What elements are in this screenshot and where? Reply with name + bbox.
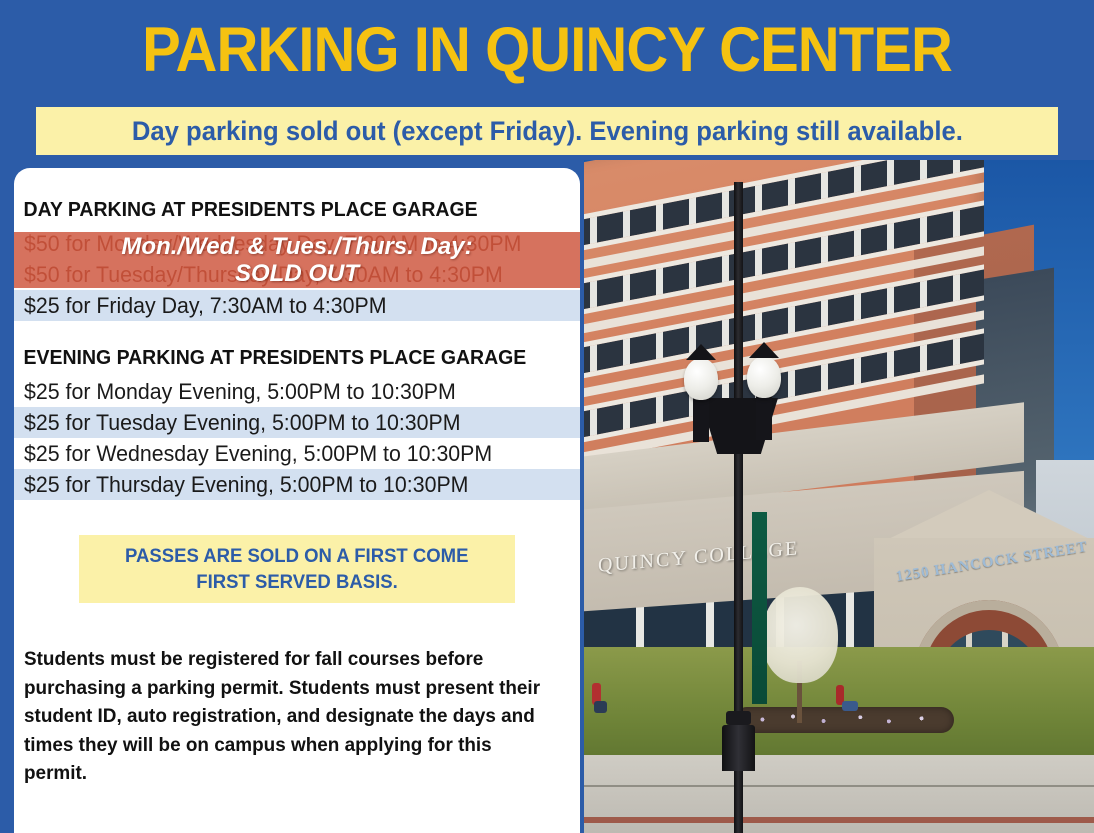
person: [842, 701, 858, 711]
day-parking-heading: DAY PARKING AT PRESIDENTS PLACE GARAGE: [14, 198, 478, 222]
parking-info-card: DAY PARKING AT PRESIDENTS PLACE GARAGE $…: [14, 168, 580, 833]
lamp-globe: [684, 358, 718, 400]
registration-footnote: Students must be registered for fall cou…: [24, 645, 554, 788]
evening-rate-row-wednesday-text: $25 for Wednesday Evening, 5:00PM to 10:…: [24, 441, 492, 467]
campus-photo: QUINCY COLLEGE 1250 HANCOCK STREET: [584, 160, 1094, 833]
availability-banner-text: Day parking sold out (except Friday). Ev…: [131, 116, 962, 147]
availability-banner: Day parking sold out (except Friday). Ev…: [36, 107, 1058, 155]
evening-rate-row-tuesday-text: $25 for Tuesday Evening, 5:00PM to 10:30…: [24, 410, 461, 436]
first-come-notice-line1: PASSES ARE SOLD ON A FIRST COME: [125, 543, 468, 569]
evening-rate-row-thursday-text: $25 for Thursday Evening, 5:00PM to 10:3…: [24, 472, 468, 498]
first-come-notice-line2: FIRST SERVED BASIS.: [196, 569, 397, 595]
lamp-globe: [747, 356, 781, 398]
evening-rate-row-tuesday: $25 for Tuesday Evening, 5:00PM to 10:30…: [14, 407, 580, 438]
flowering-tree: [762, 587, 838, 683]
day-rate-row-friday: $25 for Friday Day, 7:30AM to 4:30PM: [14, 290, 580, 321]
light-pole-banner: [752, 512, 767, 704]
evening-rate-row-thursday: $25 for Thursday Evening, 5:00PM to 10:3…: [14, 469, 580, 500]
evening-rate-row-wednesday: $25 for Wednesday Evening, 5:00PM to 10:…: [14, 438, 580, 469]
page-title: PARKING IN QUINCY CENTER: [44, 14, 1050, 86]
sold-out-overlay: Mon./Wed. & Tues./Thurs. Day: SOLD OUT: [14, 232, 580, 288]
lamp-post-base: [722, 725, 755, 771]
evening-parking-heading: EVENING PARKING AT PRESIDENTS PLACE GARA…: [14, 346, 526, 370]
lamp-neck: [693, 398, 709, 442]
sold-out-overlay-line2: SOLD OUT: [235, 260, 359, 287]
lamp-collar: [726, 711, 751, 725]
lamp-neck: [756, 396, 772, 440]
parking-poster: QUINCY COLLEGE 1250 HANCOCK STREET PA: [0, 0, 1094, 833]
evening-rate-row-monday: $25 for Monday Evening, 5:00PM to 10:30P…: [14, 376, 580, 407]
sold-out-overlay-line1: Mon./Wed. & Tues./Thurs. Day:: [121, 233, 472, 260]
first-come-notice: PASSES ARE SOLD ON A FIRST COME FIRST SE…: [79, 535, 515, 603]
curb: [584, 817, 1094, 823]
person: [594, 701, 607, 713]
day-rate-row-friday-text: $25 for Friday Day, 7:30AM to 4:30PM: [24, 293, 387, 319]
sidewalk-seam: [584, 785, 1094, 787]
evening-rate-row-monday-text: $25 for Monday Evening, 5:00PM to 10:30P…: [24, 379, 456, 405]
